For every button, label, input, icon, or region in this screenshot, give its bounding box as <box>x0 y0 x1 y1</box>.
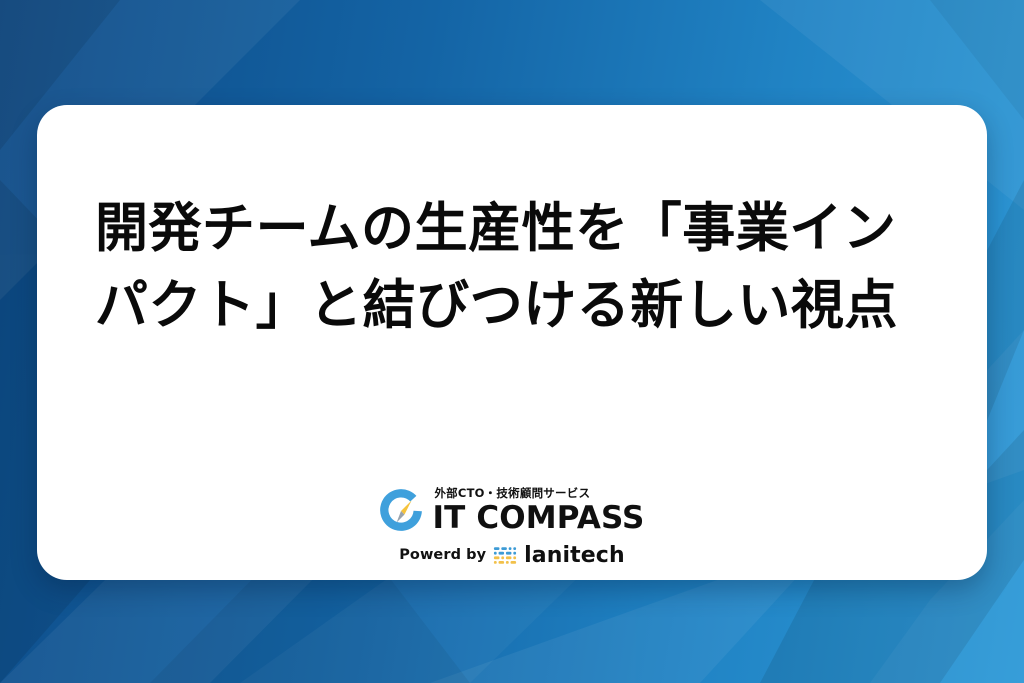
logo-wordmark: IT COMPASS <box>432 503 644 534</box>
title-line-2: パクト」と結びつける新しい視点 <box>95 267 929 344</box>
logo-tagline: 外部CTO・技術顧問サービス <box>432 488 644 500</box>
page-title: 開発チームの生産性を「事業イン パクト」と結びつける新しい視点 <box>37 105 987 345</box>
logo-lockup: 外部CTO・技術顧問サービス IT COMPASS <box>379 488 644 534</box>
lanitech-dot-matrix-icon <box>493 546 517 565</box>
powered-by-label: Powerd by <box>399 548 486 563</box>
logo-text-group: 外部CTO・技術顧問サービス IT COMPASS <box>432 488 644 534</box>
compass-ring-icon <box>379 489 423 533</box>
lanitech-wordmark: lanitech <box>524 545 625 567</box>
powered-by-row: Powerd by <box>399 545 625 567</box>
title-line-1: 開発チームの生産性を「事業イン <box>95 190 929 267</box>
content-card: 開発チームの生産性を「事業イン パクト」と結びつける新しい視点 外部CTO・技術… <box>37 105 987 580</box>
slide-root: 開発チームの生産性を「事業イン パクト」と結びつける新しい視点 外部CTO・技術… <box>0 0 1024 683</box>
brand-logo-block: 外部CTO・技術顧問サービス IT COMPASS Powerd by <box>37 488 987 567</box>
